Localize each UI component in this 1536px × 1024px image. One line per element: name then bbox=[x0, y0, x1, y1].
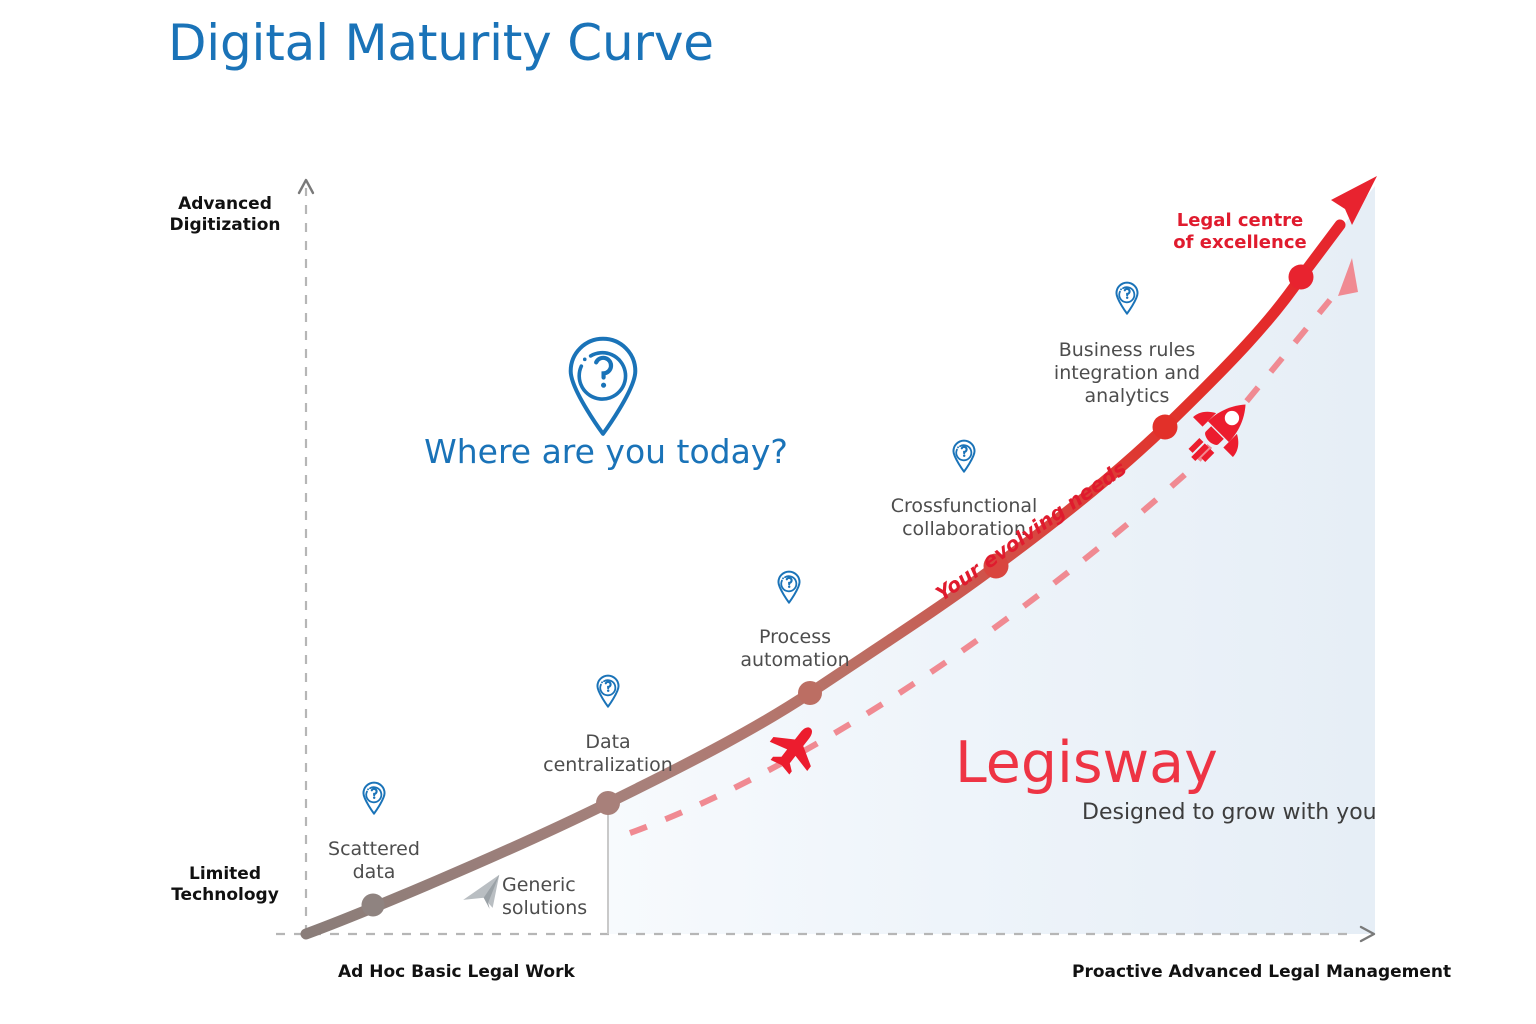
axis-label-x-left: Ad Hoc Basic Legal Work bbox=[338, 962, 575, 983]
infographic-canvas: Digital Maturity Curve Advanced Digitiza… bbox=[0, 0, 1536, 1024]
brand-name: Legisway bbox=[955, 730, 1218, 796]
stage-label-line: Business rules bbox=[1017, 339, 1237, 362]
axis-label-y-top-line1: Advanced bbox=[150, 194, 300, 215]
node-process-automation bbox=[798, 681, 822, 705]
map-pin-question-icon-crossfunctional bbox=[953, 441, 974, 472]
stage-label-line: Data bbox=[508, 731, 708, 754]
stage-label-data-centralization: Data centralization bbox=[508, 731, 708, 777]
stage-label-business-rules: Business rules integration and analytics bbox=[1017, 339, 1237, 409]
stage-label-line: centralization bbox=[508, 754, 708, 777]
stage-label-scattered-data: Scattered data bbox=[274, 838, 474, 884]
node-scattered-data bbox=[362, 894, 385, 917]
node-legal-coe bbox=[1289, 265, 1314, 290]
generic-solutions-label: Generic solutions bbox=[502, 874, 587, 920]
axis-label-y-bottom-line2: Technology bbox=[150, 885, 300, 906]
stage-label-process-automation: Process automation bbox=[695, 626, 895, 672]
map-pin-question-icon bbox=[571, 339, 636, 434]
map-pin-question-icon-business-rules bbox=[1116, 283, 1137, 314]
stage-label-line: integration and bbox=[1017, 362, 1237, 385]
axis-label-y-top: Advanced Digitization bbox=[150, 194, 300, 237]
where-are-you-today-text: Where are you today? bbox=[400, 432, 812, 471]
generic-solutions-line1: Generic bbox=[502, 874, 587, 897]
page-title: Digital Maturity Curve bbox=[168, 14, 714, 72]
brand-tagline: Designed to grow with you bbox=[1082, 800, 1377, 825]
axis-label-x-right: Proactive Advanced Legal Management bbox=[1072, 962, 1451, 983]
axis-label-y-top-line2: Digitization bbox=[150, 215, 300, 236]
legal-coe-line2: of excellence bbox=[1170, 232, 1310, 254]
stage-label-line: Scattered bbox=[274, 838, 474, 861]
generic-solutions-line2: solutions bbox=[502, 897, 587, 920]
map-pin-question-icon-data-centralization bbox=[597, 676, 618, 707]
stage-label-line: data bbox=[274, 861, 474, 884]
node-business-rules bbox=[1153, 415, 1178, 440]
axis-y bbox=[299, 180, 313, 934]
legal-centre-of-excellence-label: Legal centre of excellence bbox=[1170, 210, 1310, 255]
map-pin-question-icon-scattered-data bbox=[363, 783, 384, 814]
node-data-centralization bbox=[596, 791, 620, 815]
legal-coe-line1: Legal centre bbox=[1170, 210, 1310, 232]
stage-label-line: Process bbox=[695, 626, 895, 649]
stage-label-line: analytics bbox=[1017, 385, 1237, 408]
map-pin-question-icon-process-automation bbox=[778, 572, 799, 603]
stage-label-line: automation bbox=[695, 649, 895, 672]
